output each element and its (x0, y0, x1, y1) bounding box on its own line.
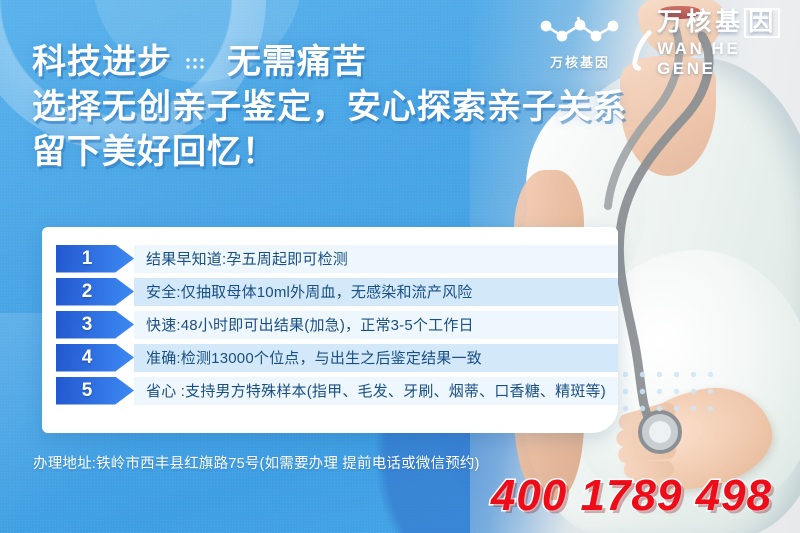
feature-row: 1 结果早知道:孕五周起即可检测 (42, 243, 618, 274)
swish-icon (632, 28, 653, 72)
feature-text: 安全:仅抽取母体10ml外周血，无感染和流产风险 (134, 278, 618, 306)
feature-text: 准确:检测13000个位点，与出生之后鉴定结果一致 (134, 344, 618, 372)
logo-mark: 万核基因 (534, 15, 626, 71)
promo-banner: 万核基因 万核基因 WAN HE GENE 科技进步 无需痛苦 选择无创亲子鉴定… (0, 0, 800, 533)
brand-logo: 万核基因 万核基因 WAN HE GENE (534, 8, 800, 79)
dots-separator-icon (184, 55, 214, 73)
feature-text: 快速:48小时即可出结果(加急)，正常3-5个工作日 (134, 311, 618, 339)
address-text: 办理地址:铁岭市西丰县红旗路75号(如需要办理 提前电话或微信预约) (33, 452, 480, 473)
feature-number-badge: 4 (56, 344, 134, 372)
headline-line-1a: 科技进步 (32, 43, 172, 81)
feature-row: 2 安全:仅抽取母体10ml外周血，无感染和流产风险 (42, 276, 618, 307)
logo-wordmark: 万核基因 WAN HE GENE (657, 8, 800, 79)
logo-name-boxed-char: 因 (744, 8, 780, 38)
feature-row: 4 准确:检测13000个位点，与出生之后鉴定结果一致 (42, 342, 618, 373)
feature-text: 省心 :支持男方特殊样本(指甲、毛发、牙刷、烟蒂、口香糖、精斑等) (134, 377, 618, 405)
feature-text: 结果早知道:孕五周起即可检测 (134, 245, 618, 273)
logo-name-en: WAN HE GENE (657, 39, 800, 79)
feature-row: 5 省心 :支持男方特殊样本(指甲、毛发、牙刷、烟蒂、口香糖、精斑等) (42, 375, 618, 406)
logo-mark-label: 万核基因 (534, 52, 626, 71)
phone-number[interactable]: 400 1789 498 (491, 471, 772, 521)
logo-name-cn: 万核基因 (657, 8, 800, 38)
headline-line-2: 选择无创亲子鉴定，安心探索亲子关系 (32, 85, 627, 130)
feature-number-badge: 3 (56, 311, 134, 339)
molecule-icon (534, 15, 626, 51)
headline-line-1b: 无需痛苦 (227, 43, 367, 81)
feature-row: 3 快速:48小时即可出结果(加急)，正常3-5个工作日 (42, 309, 618, 340)
feature-number-badge: 2 (56, 278, 134, 306)
feature-number-badge: 5 (56, 377, 134, 405)
feature-number-badge: 1 (56, 245, 134, 273)
headline-line-3: 留下美好回忆！ (32, 130, 627, 175)
features-card: 1 结果早知道:孕五周起即可检测 2 安全:仅抽取母体10ml外周血，无感染和流… (42, 227, 618, 433)
